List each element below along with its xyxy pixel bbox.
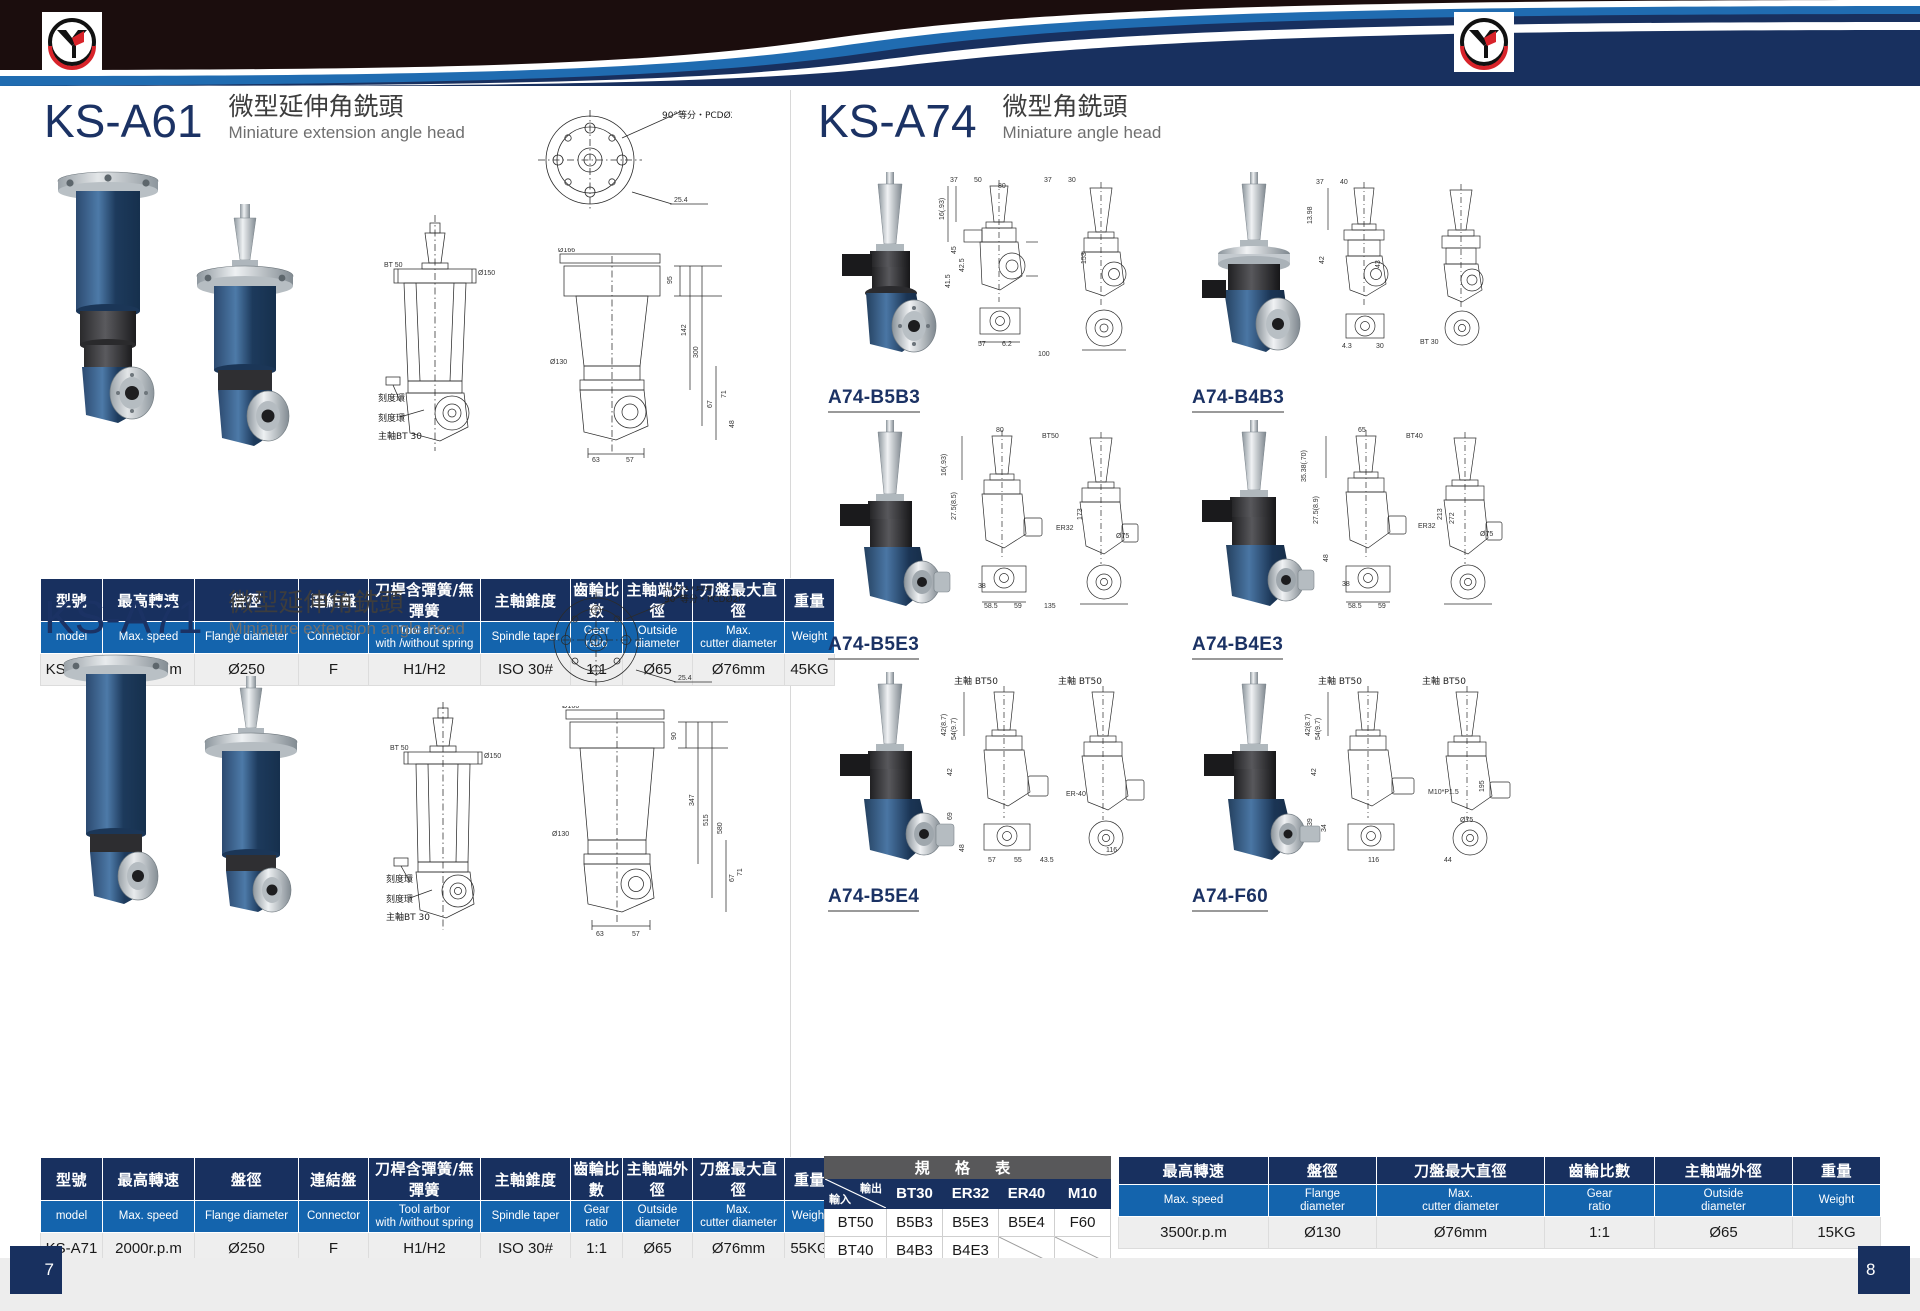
svg-text:BT 30: BT 30 (1420, 339, 1439, 346)
svg-text:30: 30 (1068, 177, 1076, 184)
th-en-cutter: Max. cutter diameter (1377, 1185, 1545, 1217)
svg-text:16(.93): 16(.93) (941, 454, 948, 476)
matrix-title-row: 規 格 表 (825, 1157, 1111, 1179)
product-photo-a61-taper (178, 198, 328, 456)
svg-text:71: 71 (737, 868, 744, 876)
matrix-corner-output: 輸出 (860, 1180, 882, 1196)
th-cn-outside: 主軸端外徑 (623, 1158, 693, 1201)
svg-text:ER-40: ER-40 (1066, 791, 1086, 798)
bolt-note-line2: 90°等分・PCDØ200 (662, 109, 732, 121)
outer-dim: Ø166 (562, 706, 579, 710)
taper-label: BT 50 (390, 745, 409, 752)
svg-text:48: 48 (959, 844, 966, 852)
td-weight: 45KG (785, 654, 835, 686)
section-header-ks-a71: KS-A71 微型延伸角銑頭 Miniature extension angle… (44, 588, 465, 643)
td-cutter: Ø76mm (1377, 1217, 1545, 1249)
section-title-cn: 微型延伸角銑頭 (229, 588, 465, 618)
product-photo-a71-front (48, 650, 198, 915)
th-en-taper: Spindle taper (481, 1201, 571, 1233)
th-cn-weight: 重量 (785, 579, 835, 622)
section-header-ks-a74: KS-A74 微型角銑頭 Miniature angle head (818, 92, 1161, 147)
company-logo-right (1454, 12, 1514, 72)
svg-text:347: 347 (689, 794, 696, 806)
svg-text:37: 37 (950, 177, 958, 184)
company-logo-left (42, 12, 102, 72)
svg-text:35.38(.70): 35.38(.70) (1301, 450, 1308, 482)
svg-text:58.5: 58.5 (1348, 603, 1362, 610)
spindle-dim: Ø130 (550, 359, 567, 366)
section-header-ks-a61: KS-A61 微型延伸角銑頭 Miniature extension angle… (44, 92, 465, 147)
svg-text:48: 48 (729, 420, 736, 428)
svg-text:65: 65 (1358, 427, 1366, 434)
product-photo-a71-taper (186, 672, 336, 920)
td-gear: 1:1 (1545, 1217, 1655, 1249)
product-label-a74-b5e4: A74-B5E4 (828, 886, 919, 912)
th-en-outside: Outside diameter (623, 1201, 693, 1233)
svg-text:38: 38 (978, 583, 986, 590)
taper-label: BT 50 (384, 262, 403, 269)
section-title-en: Miniature extension angle head (229, 122, 465, 144)
svg-text:71: 71 (721, 390, 728, 398)
product-photo-a61-front (46, 165, 186, 455)
svg-text:63: 63 (596, 931, 604, 938)
th-cn-flange: 盤徑 (195, 1158, 299, 1201)
svg-text:43.5: 43.5 (1040, 857, 1054, 864)
svg-text:63: 63 (592, 457, 600, 463)
svg-text:55: 55 (1014, 857, 1022, 864)
svg-text:580: 580 (717, 822, 724, 834)
spindle-note-f60-r: 主軸 BT50 (1422, 675, 1466, 687)
spindle-bt-note: 主軸BT 30 (386, 911, 430, 923)
drawing-a71-flange-topview: (4)Ø17貫穿・ 90°等分・PCDØ200 25.4 (520, 586, 740, 696)
table-header-row-cn: 型號 最高轉速 盤徑 連結盤 刀桿含彈簧/無彈簧 主軸錐度 齒輪比數 主軸端外徑… (41, 1158, 835, 1201)
spindle-note-b5e4-r: 主軸 BT50 (1058, 675, 1102, 687)
th-en-cutter: Max. cutter diameter (693, 1201, 785, 1233)
svg-text:90: 90 (671, 732, 678, 740)
matrix-cell: F60 (1055, 1209, 1111, 1237)
svg-text:42: 42 (1311, 768, 1318, 776)
flange-dim: Ø150 (484, 753, 501, 760)
bolt-note-line1: (4)Ø17貫穿・ (662, 108, 720, 109)
svg-text:54(9.7): 54(9.7) (951, 718, 958, 740)
spec-table-ks-a71: 型號 最高轉速 盤徑 連結盤 刀桿含彈簧/無彈簧 主軸錐度 齒輪比數 主軸端外徑… (40, 1157, 835, 1265)
product-cell-a74-b4e3: 65 BT40 35.38(.70) 27.5(8.9) 48 213 272 … (1192, 420, 1512, 660)
td-flange: Ø130 (1269, 1217, 1377, 1249)
th-cn-speed: 最高轉速 (1119, 1157, 1269, 1185)
svg-text:27.5(8.5): 27.5(8.5) (951, 492, 958, 520)
product-cell-a74-b5b3: 3750 80 16(.93) 45 42.5 41.5 576.2 100 3… (828, 168, 1148, 413)
product-label-a74-b4e3: A74-B4E3 (1192, 634, 1283, 660)
matrix-header-row: 輸出 輸入 BT30 ER32 ER40 M10 (825, 1179, 1111, 1209)
td-arbor: H1/H2 (369, 654, 481, 686)
svg-text:59: 59 (1014, 603, 1022, 610)
svg-text:58.5: 58.5 (984, 603, 998, 610)
th-cn-outside: 主軸端外徑 (1655, 1157, 1793, 1185)
th-en-speed: Max. speed (103, 1201, 195, 1233)
svg-text:42(8.7): 42(8.7) (941, 714, 948, 736)
td-weight: 15KG (1793, 1217, 1881, 1249)
th-cn-speed: 最高轉速 (103, 1158, 195, 1201)
matrix-cell: B5E4 (999, 1209, 1055, 1237)
th-cn-flange: 盤徑 (1269, 1157, 1377, 1185)
drawing-a61-elevation: Ø166 Ø130 95 142 300 67 71 48 63 57 (530, 248, 740, 463)
svg-text:80: 80 (998, 183, 1006, 190)
scale-ring-note: 刻度環 (378, 392, 405, 404)
th-en-arbor: Tool arbor with /without spring (369, 1201, 481, 1233)
matrix-col-m10: M10 (1055, 1179, 1111, 1209)
spindle-dim: Ø130 (552, 831, 569, 838)
banner-swoosh (0, 0, 1920, 86)
svg-text:67: 67 (729, 874, 736, 882)
th-cn-arbor: 刀桿含彈簧/無彈簧 (369, 1158, 481, 1201)
table-header-row-en: Max. speed Flange diameter Max. cutter d… (1119, 1185, 1881, 1217)
svg-text:42(8.7): 42(8.7) (1305, 714, 1312, 736)
svg-text:54(9.7): 54(9.7) (1315, 718, 1322, 740)
drawing-a71-elevation: Ø166 Ø130 90 347 515 580 67 71 63 57 (536, 706, 746, 938)
td-speed: 3500r.p.m (1119, 1217, 1269, 1249)
svg-text:Ø75: Ø75 (1480, 531, 1493, 538)
matrix-title: 規 格 表 (825, 1157, 1111, 1179)
section-title-en: Miniature angle head (1003, 122, 1162, 144)
th-cn-connector: 連結盤 (299, 1158, 369, 1201)
table-header-row-cn: 最高轉速 盤徑 刀盤最大直徑 齒輪比數 主軸端外徑 重量 (1119, 1157, 1881, 1185)
svg-text:50: 50 (974, 177, 982, 184)
svg-text:42: 42 (1319, 256, 1326, 264)
svg-text:515: 515 (703, 814, 710, 826)
matrix-col-er32: ER32 (943, 1179, 999, 1209)
section-title-cn: 微型角銑頭 (1003, 92, 1162, 122)
th-en-gear: Gear ratio (1545, 1185, 1655, 1217)
svg-text:Ø75: Ø75 (1116, 533, 1129, 540)
th-en-flange: Flange diameter (195, 1201, 299, 1233)
svg-text:4.3: 4.3 (1342, 343, 1352, 350)
product-label-a74-b4b3: A74-B4B3 (1192, 387, 1284, 413)
svg-text:45: 45 (951, 246, 958, 254)
svg-text:30: 30 (1376, 343, 1384, 350)
spindle-bt-note: 主軸BT 30 (378, 430, 422, 442)
flange-dim: Ø150 (478, 270, 495, 277)
svg-text:80: 80 (996, 427, 1004, 434)
section-title-cn: 微型延伸角銑頭 (229, 92, 465, 122)
svg-text:57: 57 (978, 341, 986, 348)
product-cell-a74-b4b3: 3740 13.98 42 43 4.330 BT 30 A74-B4B3 (1192, 168, 1512, 413)
spindle-note-b5e4: 主軸 BT50 (954, 675, 998, 687)
th-en-flange: Flange diameter (1269, 1185, 1377, 1217)
bolt-note-line1: (4)Ø17貫穿・ (664, 586, 722, 593)
drawing-a61-flange-topview: (4)Ø17貫穿・ 90°等分・PCDØ200 25.4 (512, 108, 732, 218)
svg-text:6.2: 6.2 (1002, 341, 1012, 348)
svg-text:41.5: 41.5 (945, 274, 952, 288)
th-en-speed: Max. speed (1119, 1185, 1269, 1217)
svg-text:100: 100 (1038, 351, 1050, 358)
svg-text:57: 57 (988, 857, 996, 864)
svg-text:300: 300 (693, 346, 700, 358)
table-header-row-en: model Max. speed Flange diameter Connect… (41, 1201, 835, 1233)
top-banner (0, 0, 1920, 86)
dim-note: 25.4 (674, 197, 688, 204)
product-label-a74-b5e3: A74-B5E3 (828, 634, 919, 660)
svg-text:44: 44 (1444, 857, 1452, 864)
th-en-weight: Weight (785, 622, 835, 654)
th-cn-gear: 齒輪比數 (571, 1158, 623, 1201)
section-title-en: Miniature extension angle head (229, 618, 465, 640)
svg-text:135: 135 (1044, 603, 1056, 610)
matrix-col-er40: ER40 (999, 1179, 1055, 1209)
matrix-cell: B5E3 (943, 1209, 999, 1237)
th-cn-taper: 主軸錐度 (481, 1158, 571, 1201)
svg-text:67: 67 (707, 400, 714, 408)
svg-text:38: 38 (1342, 581, 1350, 588)
matrix-corner-cell: 輸出 輸入 (825, 1179, 887, 1209)
th-en-gear: Gear ratio (571, 1201, 623, 1233)
product-cell-a74-f60: 主軸 BT50 42(8.7) 54(9.7) 42 39 34 116 44 … (1192, 672, 1512, 912)
svg-text:116: 116 (1106, 847, 1117, 854)
product-cell-a74-b5e4: 主軸 BT50 42(8.7) 54(9.7) 42 69 48 5755 43… (828, 672, 1148, 912)
svg-text:37: 37 (1044, 177, 1052, 184)
footer-bar (0, 1258, 1920, 1311)
matrix-cell: B5B3 (887, 1209, 943, 1237)
product-cell-a74-b5e3: 80 BT50 16(.93) 27.5(8.5) 173 58.559 135… (828, 420, 1148, 660)
svg-text:48: 48 (1323, 554, 1330, 562)
svg-text:39: 39 (1307, 818, 1314, 826)
page-number-left: 7 (10, 1246, 62, 1294)
th-en-connector: Connector (299, 1201, 369, 1233)
svg-text:116: 116 (1368, 857, 1379, 864)
scale-ring-note: 刻度環 (386, 873, 413, 885)
th-cn-cutter: 刀盤最大直徑 (1377, 1157, 1545, 1185)
product-label-a74-b5b3: A74-B5B3 (828, 387, 920, 413)
svg-text:69: 69 (947, 812, 954, 820)
svg-text:43: 43 (1375, 260, 1382, 268)
svg-text:95: 95 (667, 276, 674, 284)
svg-text:13.98: 13.98 (1307, 206, 1314, 224)
th-en-outside: Outside diameter (1655, 1185, 1793, 1217)
svg-text:173: 173 (1077, 508, 1084, 520)
svg-text:BT50: BT50 (1042, 433, 1059, 440)
svg-text:142: 142 (681, 324, 688, 336)
spec-table-ks-a74: 最高轉速 盤徑 刀盤最大直徑 齒輪比數 主軸端外徑 重量 Max. speed … (1118, 1156, 1881, 1249)
svg-text:59: 59 (1378, 603, 1386, 610)
svg-text:ER32: ER32 (1418, 523, 1436, 530)
dim-note: 25.4 (678, 675, 692, 682)
th-cn-model: 型號 (41, 1158, 103, 1201)
svg-text:42: 42 (947, 768, 954, 776)
page-number-right: 8 (1858, 1246, 1910, 1294)
svg-text:40: 40 (1340, 179, 1348, 186)
th-cn-gear: 齒輪比數 (1545, 1157, 1655, 1185)
th-cn-cutter: 刀盤最大直徑 (693, 1158, 785, 1201)
matrix-corner-input: 輸入 (829, 1191, 851, 1207)
svg-text:42.5: 42.5 (959, 258, 966, 272)
scale-ring-note-2: 刻度環 (386, 893, 413, 905)
svg-text:M10*P1.5: M10*P1.5 (1428, 789, 1459, 796)
matrix-table-spec: 規 格 表 輸出 輸入 BT30 ER32 ER40 M10 BT50 B5B3… (824, 1156, 1111, 1265)
spindle-note-f60: 主軸 BT50 (1318, 675, 1362, 687)
bolt-note-line2: 90°等分・PCDØ200 (664, 593, 740, 605)
svg-text:16(.93): 16(.93) (939, 198, 946, 220)
product-label-a74-f60: A74-F60 (1192, 886, 1268, 912)
section-code: KS-A61 (44, 95, 203, 147)
svg-text:195: 195 (1479, 780, 1486, 792)
svg-text:272: 272 (1449, 512, 1456, 524)
section-code: KS-A71 (44, 591, 203, 643)
svg-text:BT40: BT40 (1406, 433, 1423, 440)
svg-text:57: 57 (632, 931, 640, 938)
svg-text:ER32: ER32 (1056, 525, 1074, 532)
matrix-col-bt30: BT30 (887, 1179, 943, 1209)
th-cn-weight: 重量 (1793, 1157, 1881, 1185)
scale-ring-note-2: 刻度環 (378, 412, 405, 424)
svg-text:27.5(8.9): 27.5(8.9) (1313, 496, 1320, 524)
table-row: 3500r.p.m Ø130 Ø76mm 1:1 Ø65 15KG (1119, 1217, 1881, 1249)
matrix-row-input: BT50 (825, 1209, 887, 1237)
section-code: KS-A74 (818, 95, 977, 147)
svg-text:34: 34 (1321, 824, 1328, 832)
svg-text:213: 213 (1437, 508, 1444, 520)
svg-text:57: 57 (626, 457, 634, 463)
th-en-model: model (41, 1201, 103, 1233)
outer-dim: Ø166 (558, 248, 575, 254)
svg-text:37: 37 (1316, 179, 1324, 186)
th-en-weight: Weight (1793, 1185, 1881, 1217)
td-outside: Ø65 (1655, 1217, 1793, 1249)
matrix-row-bt50: BT50 B5B3 B5E3 B5E4 F60 (825, 1209, 1111, 1237)
